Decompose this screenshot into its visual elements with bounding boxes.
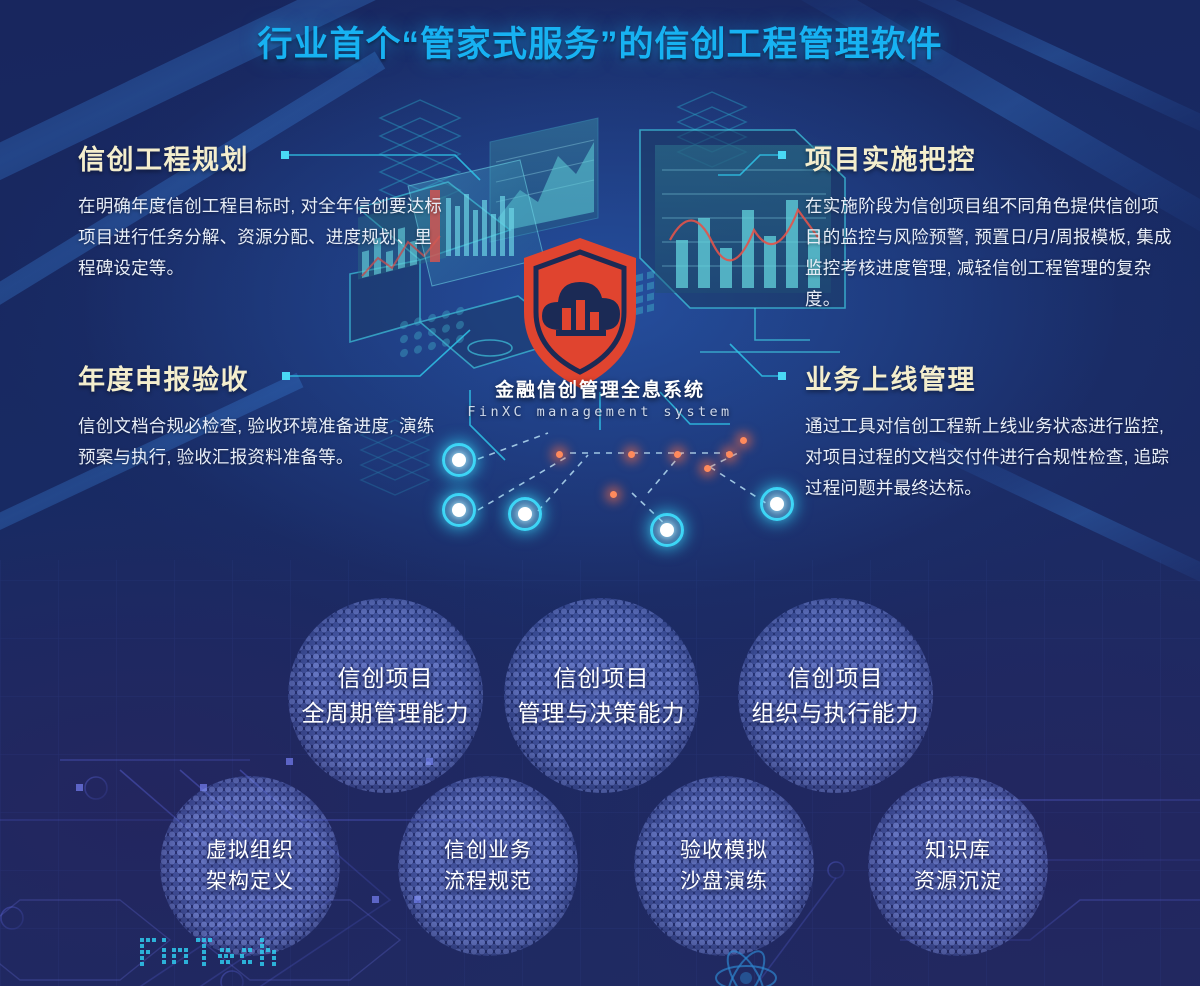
capability-sphere[interactable]: 信创项目 全周期管理能力 [288, 598, 483, 793]
feature-block-bottom-right: 业务上线管理 通过工具对信创工程新上线业务状态进行监控, 对项目过程的文档交付件… [805, 358, 1175, 504]
feature-heading: 项目实施把控 [805, 138, 1175, 177]
node-ring [508, 497, 542, 531]
center-system-label: 金融信创管理全息系统 FinXC management system [410, 375, 790, 420]
sphere-label-line1: 信创项目 [752, 661, 920, 696]
sphere-label-line1: 信创业务 [444, 835, 532, 867]
sphere-label-line2: 资源沉淀 [914, 866, 1002, 898]
feature-heading: 业务上线管理 [805, 358, 1175, 397]
node-dot [628, 451, 635, 458]
node-ring [442, 443, 476, 477]
sphere-label-line2: 沙盘演练 [680, 866, 768, 898]
feature-heading: 信创工程规划 [78, 138, 448, 177]
sphere-label-line1: 虚拟组织 [206, 835, 294, 867]
node-dashed-links [420, 415, 820, 555]
sphere-label: 信创项目 管理与决策能力 [518, 661, 686, 730]
feature-block-bottom-left: 年度申报验收 信创文档合规必检查, 验收环境准备进度, 演练预案与执行, 验收汇… [78, 358, 448, 473]
sphere-label-line1: 信创项目 [518, 661, 686, 696]
feature-body: 在实施阶段为信创项目组不同角色提供信创项目的监控与风险预警, 预置日/月/周报模… [805, 191, 1175, 316]
sphere-label-line2: 架构定义 [206, 866, 294, 898]
feature-sphere[interactable]: 知识库 资源沉淀 [868, 776, 1048, 956]
sphere-label: 信创项目 组织与执行能力 [752, 661, 920, 730]
sphere-label-line2: 全周期管理能力 [302, 696, 470, 731]
sphere-label: 知识库 资源沉淀 [914, 835, 1002, 898]
fintech-wordmark [140, 932, 350, 972]
sphere-label-line2: 管理与决策能力 [518, 696, 686, 731]
node-dot [726, 451, 733, 458]
node-dot [740, 437, 747, 444]
node-dot [674, 451, 681, 458]
feature-heading: 年度申报验收 [78, 358, 448, 397]
feature-sphere[interactable]: 验收模拟 沙盘演练 [634, 776, 814, 956]
sphere-label-line1: 知识库 [914, 835, 1002, 867]
node-dot [704, 465, 711, 472]
sphere-label: 信创业务 流程规范 [444, 835, 532, 898]
feature-sphere[interactable]: 虚拟组织 架构定义 [160, 776, 340, 956]
node-dot [556, 451, 563, 458]
node-network [420, 415, 820, 555]
feature-body: 信创文档合规必检查, 验收环境准备进度, 演练预案与执行, 验收汇报资料准备等。 [78, 411, 448, 473]
node-ring [760, 487, 794, 521]
sphere-label-line2: 组织与执行能力 [752, 696, 920, 731]
node-dot [610, 491, 617, 498]
sphere-label: 信创项目 全周期管理能力 [302, 661, 470, 730]
feature-block-top-left: 信创工程规划 在明确年度信创工程目标时, 对全年信创要达标项目进行任务分解、资源… [78, 138, 448, 284]
feature-body: 在明确年度信创工程目标时, 对全年信创要达标项目进行任务分解、资源分配、进度规划… [78, 191, 448, 284]
atom-icon [700, 938, 792, 986]
sphere-label: 虚拟组织 架构定义 [206, 835, 294, 898]
shield-cloud-bar-chart-icon [524, 238, 636, 388]
page-title: 行业首个“管家式服务”的信创工程管理软件 [0, 16, 1200, 67]
system-name-cn: 金融信创管理全息系统 [410, 375, 790, 402]
sphere-label-line2: 流程规范 [444, 866, 532, 898]
infographic-canvas: 行业首个“管家式服务”的信创工程管理软件 [0, 0, 1200, 986]
feature-body: 通过工具对信创工程新上线业务状态进行监控, 对项目过程的文档交付件进行合规性检查… [805, 411, 1175, 504]
sphere-label-line1: 验收模拟 [680, 835, 768, 867]
feature-block-top-right: 项目实施把控 在实施阶段为信创项目组不同角色提供信创项目的监控与风险预警, 预置… [805, 138, 1175, 316]
sphere-label-line1: 信创项目 [302, 661, 470, 696]
sphere-label: 验收模拟 沙盘演练 [680, 835, 768, 898]
capability-sphere[interactable]: 信创项目 管理与决策能力 [504, 598, 699, 793]
node-ring [442, 493, 476, 527]
capability-sphere[interactable]: 信创项目 组织与执行能力 [738, 598, 933, 793]
feature-sphere[interactable]: 信创业务 流程规范 [398, 776, 578, 956]
node-ring [650, 513, 684, 547]
